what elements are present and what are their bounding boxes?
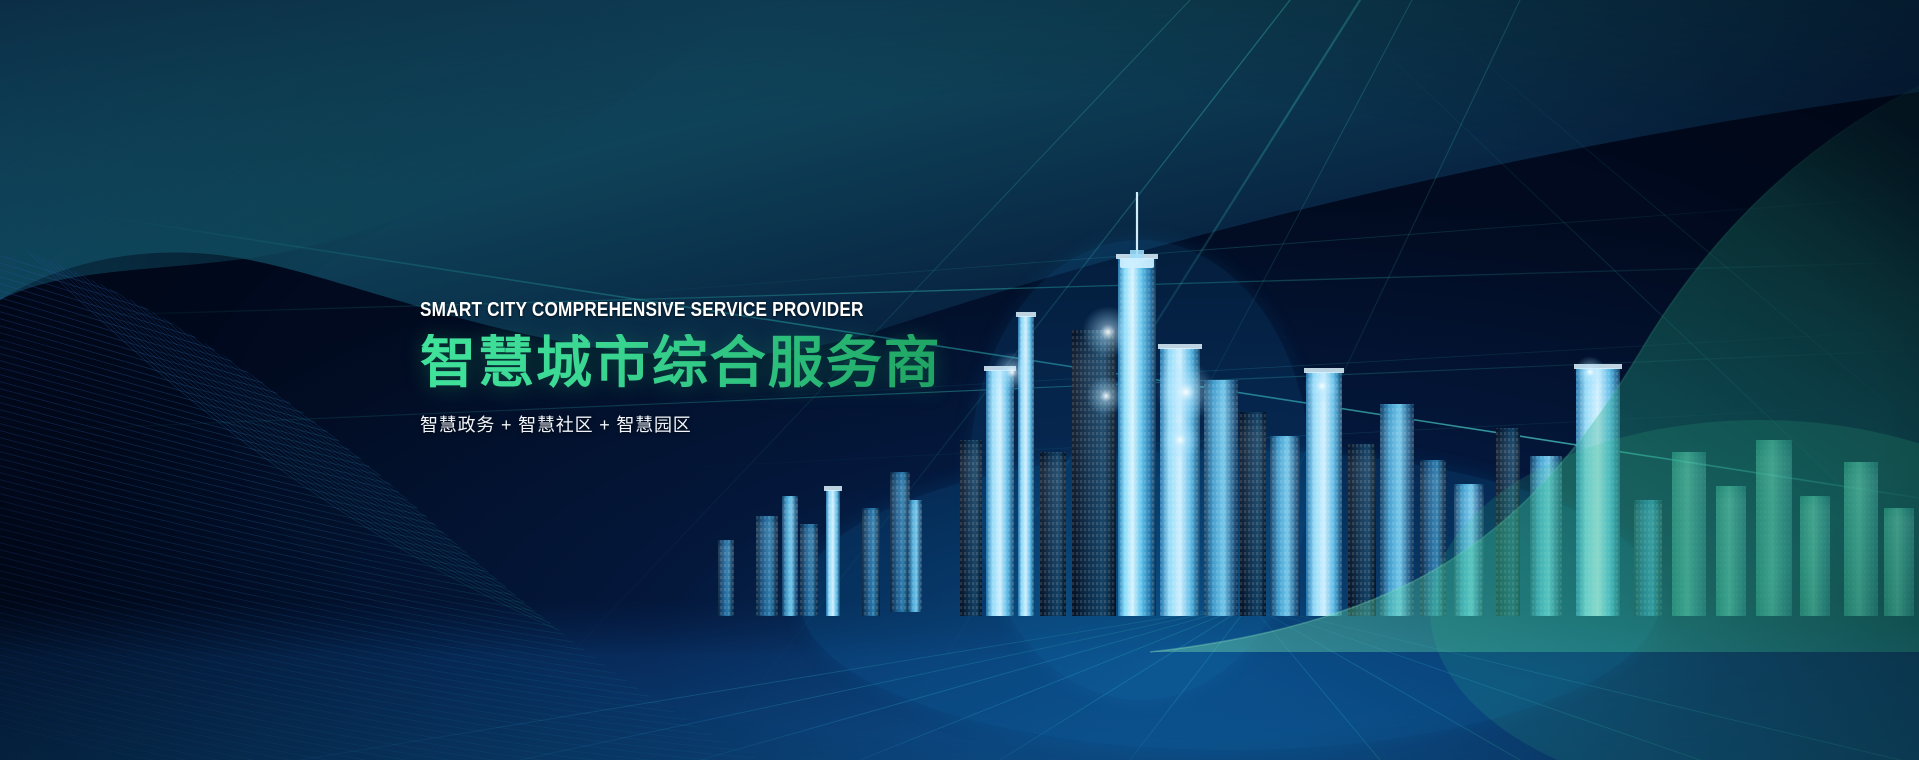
tower (1756, 440, 1792, 616)
tower (1884, 508, 1914, 616)
tower (1380, 404, 1414, 616)
tower (890, 472, 910, 612)
tower-spire (1120, 192, 1154, 268)
tower (1844, 462, 1878, 616)
tower (1040, 452, 1066, 616)
hero-eyebrow: SMART CITY COMPREHENSIVE SERVICE PROVIDE… (420, 300, 953, 320)
tower (862, 508, 880, 616)
hero-headline: 智慧城市综合服务商 (420, 334, 1040, 393)
tower (1158, 344, 1202, 616)
hero-text-block: SMART CITY COMPREHENSIVE SERVICE PROVIDE… (420, 300, 1040, 438)
hero-banner: SMART CITY COMPREHENSIVE SERVICE PROVIDE… (0, 0, 1919, 760)
tower (756, 516, 778, 616)
tower (1420, 460, 1446, 616)
tower (1574, 364, 1622, 616)
tower (1800, 496, 1830, 616)
tower (1072, 330, 1116, 616)
hero-subtitle: 智慧政务 + 智慧社区 + 智慧园区 (420, 413, 1040, 438)
tower (908, 500, 922, 612)
tower (1270, 436, 1300, 616)
tower (1672, 452, 1706, 616)
tower (1454, 484, 1484, 616)
tower (1716, 486, 1746, 616)
tower (1116, 254, 1158, 616)
tower (718, 540, 734, 616)
tower (1240, 412, 1266, 616)
tower (960, 440, 982, 616)
tower (1634, 500, 1662, 616)
tower (782, 496, 798, 616)
tower (1530, 456, 1562, 616)
tower (1204, 380, 1238, 616)
tower (1304, 368, 1344, 616)
tower (1348, 444, 1376, 616)
tower (800, 524, 818, 616)
tower (1496, 428, 1520, 616)
tower (824, 486, 842, 616)
